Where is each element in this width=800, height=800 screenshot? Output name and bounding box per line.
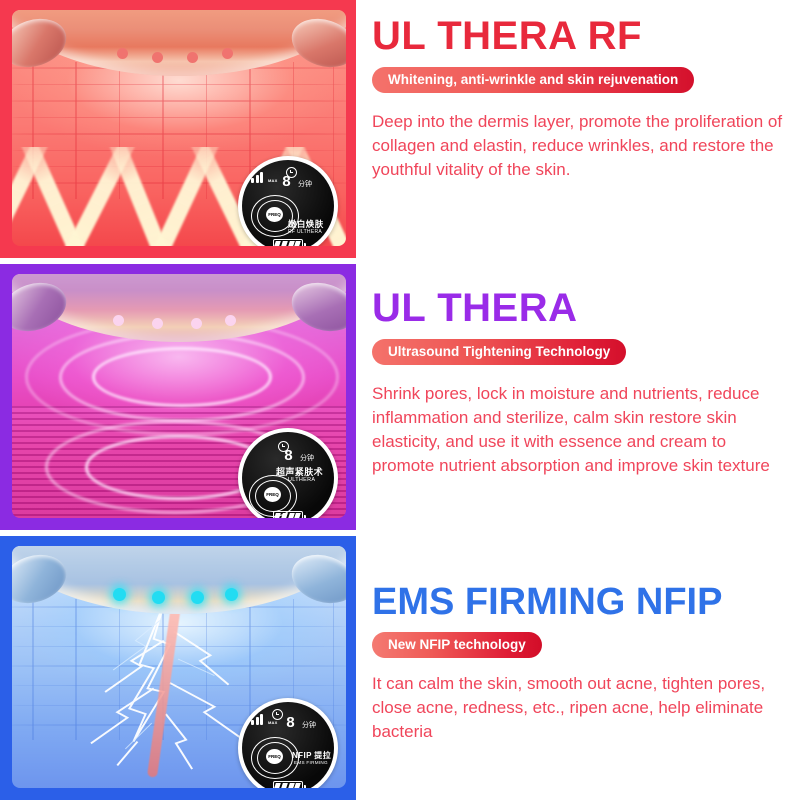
freq-core-label: FREQ bbox=[266, 749, 283, 764]
mode-name-en: EMS FIRMING bbox=[294, 760, 328, 765]
scene-ultrasound-ripples: 8 分钟 超声紧肤术 ULTHERA FREQ bbox=[12, 274, 346, 518]
freq-core-label: FREQ bbox=[266, 207, 283, 222]
image-panel-ul-thera-rf: MAX 8 分钟 FREQ 嫩白焕肤 RF ULTHERA bbox=[0, 0, 356, 258]
applicator-knob-left-icon bbox=[12, 275, 72, 339]
text-block-ul-thera: UL THERA Ultrasound Tightening Technolog… bbox=[372, 288, 792, 478]
led-dot-icon bbox=[222, 48, 233, 59]
clock-icon bbox=[272, 709, 283, 720]
timer-unit: 分钟 bbox=[300, 453, 314, 463]
frequency-wave-icon: FREQ bbox=[246, 474, 298, 516]
scene-rf-dermis: MAX 8 分钟 FREQ 嫩白焕肤 RF ULTHERA bbox=[12, 10, 346, 246]
section-description: Deep into the dermis layer, promote the … bbox=[372, 110, 792, 182]
led-dot-icon bbox=[225, 588, 238, 601]
signal-max-label: MAX bbox=[268, 178, 278, 183]
led-dot-icon bbox=[187, 52, 198, 63]
text-block-ems-firming-nfip: EMS FIRMING NFIP New NFIP technology It … bbox=[372, 583, 792, 744]
battery-icon bbox=[273, 239, 303, 246]
led-dot-icon bbox=[191, 591, 204, 604]
product-infographic: MAX 8 分钟 FREQ 嫩白焕肤 RF ULTHERA bbox=[0, 0, 800, 800]
led-dot-icon bbox=[191, 318, 202, 329]
timer-value: 8 bbox=[282, 174, 291, 191]
device-screen-ul-thera-rf: MAX 8 分钟 FREQ 嫩白焕肤 RF ULTHERA bbox=[238, 156, 338, 246]
scene-ems-lightning: MAX 8 分钟 FREQ NFIP 提拉 EMS FIRMING bbox=[12, 546, 346, 788]
section-title: EMS FIRMING NFIP bbox=[372, 583, 792, 623]
applicator-knob-right-icon bbox=[286, 275, 346, 339]
timer-value: 8 bbox=[286, 715, 295, 732]
led-dot-icon bbox=[152, 318, 163, 329]
led-dot-icon bbox=[113, 588, 126, 601]
battery-icon bbox=[273, 781, 303, 788]
section-title: UL THERA RF bbox=[372, 16, 792, 58]
section-badge: Ultrasound Tightening Technology bbox=[372, 339, 626, 365]
led-dot-icon bbox=[152, 591, 165, 604]
text-block-ul-thera-rf: UL THERA RF Whitening, anti-wrinkle and … bbox=[372, 16, 792, 182]
freq-core-label: FREQ bbox=[264, 487, 281, 502]
timer-value: 8 bbox=[284, 448, 293, 465]
image-panel-ul-thera: 8 分钟 超声紧肤术 ULTHERA FREQ bbox=[0, 264, 356, 530]
device-screen-ul-thera: 8 分钟 超声紧肤术 ULTHERA FREQ bbox=[238, 428, 338, 518]
signal-bars-icon bbox=[251, 172, 263, 183]
image-panel-ems-firming-nfip: MAX 8 分钟 FREQ NFIP 提拉 EMS FIRMING bbox=[0, 536, 356, 800]
signal-bars-icon bbox=[251, 714, 263, 725]
led-dot-icon bbox=[152, 52, 163, 63]
section-description: Shrink pores, lock in moisture and nutri… bbox=[372, 382, 792, 479]
signal-max-label: MAX bbox=[268, 720, 278, 725]
battery-icon bbox=[273, 511, 303, 518]
device-applicator-head-icon bbox=[12, 274, 346, 342]
timer-unit: 分钟 bbox=[298, 179, 312, 189]
section-description: It can calm the skin, smooth out acne, t… bbox=[372, 672, 792, 744]
led-dot-icon bbox=[113, 315, 124, 326]
section-badge: Whitening, anti-wrinkle and skin rejuven… bbox=[372, 67, 694, 93]
led-dot-icon bbox=[225, 315, 236, 326]
device-screen-ems-firming-nfip: MAX 8 分钟 FREQ NFIP 提拉 EMS FIRMING bbox=[238, 698, 338, 788]
mode-name-en: RF ULTHERA bbox=[288, 229, 322, 235]
section-badge: New NFIP technology bbox=[372, 632, 542, 658]
led-dot-icon bbox=[117, 48, 128, 59]
section-title: UL THERA bbox=[372, 288, 792, 330]
timer-unit: 分钟 bbox=[302, 720, 316, 730]
